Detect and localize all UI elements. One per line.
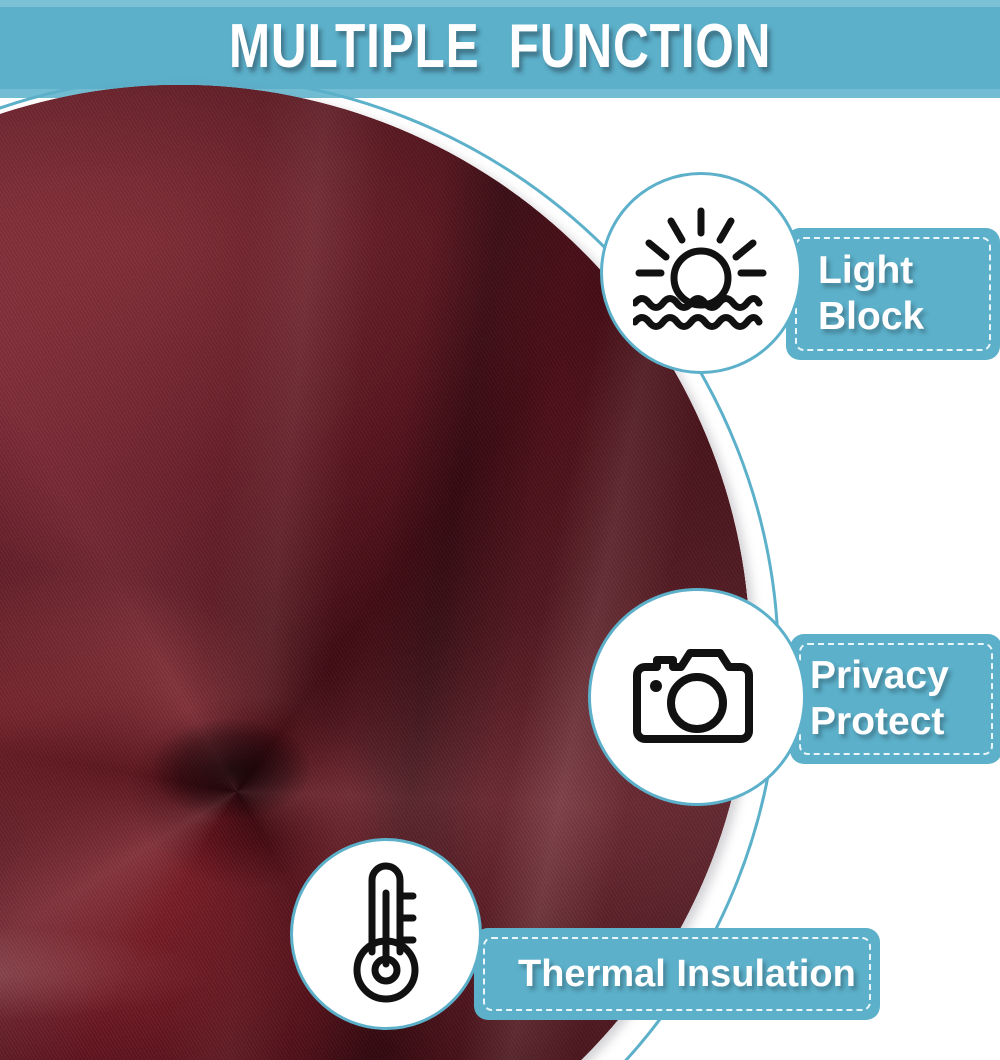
thermometer-icon <box>334 860 438 1008</box>
feature-label-line: Block <box>818 294 924 340</box>
feature-icon-circle-light-block <box>600 172 802 374</box>
feature-badge-privacy-protect: Privacy Protect <box>790 634 1000 764</box>
feature-label-line: Privacy <box>810 653 949 699</box>
feature-icon-circle-privacy-protect <box>588 588 806 806</box>
feature-icon-circle-thermal-insulation <box>290 838 482 1030</box>
page-title: MULTIPLE FUNCTION <box>229 16 772 82</box>
feature-badge-thermal-insulation: Thermal Insulation <box>474 928 880 1020</box>
camera-icon <box>629 641 765 753</box>
feature-label-line: Light <box>818 248 924 294</box>
banner-top-strip <box>0 0 1000 7</box>
infographic-canvas: MULTIPLE FUNCTION Light Block <box>0 0 1000 1060</box>
feature-label-thermal-insulation: Thermal Insulation <box>518 952 856 997</box>
feature-label-privacy-protect: Privacy Protect <box>810 653 949 745</box>
feature-label-line: Protect <box>810 699 949 745</box>
feature-label-light-block: Light Block <box>818 248 924 340</box>
camera-flash-dot <box>650 680 662 692</box>
feature-label-line: Thermal Insulation <box>518 952 856 997</box>
sunrise-icon <box>633 207 769 339</box>
feature-badge-light-block: Light Block <box>786 228 1000 360</box>
